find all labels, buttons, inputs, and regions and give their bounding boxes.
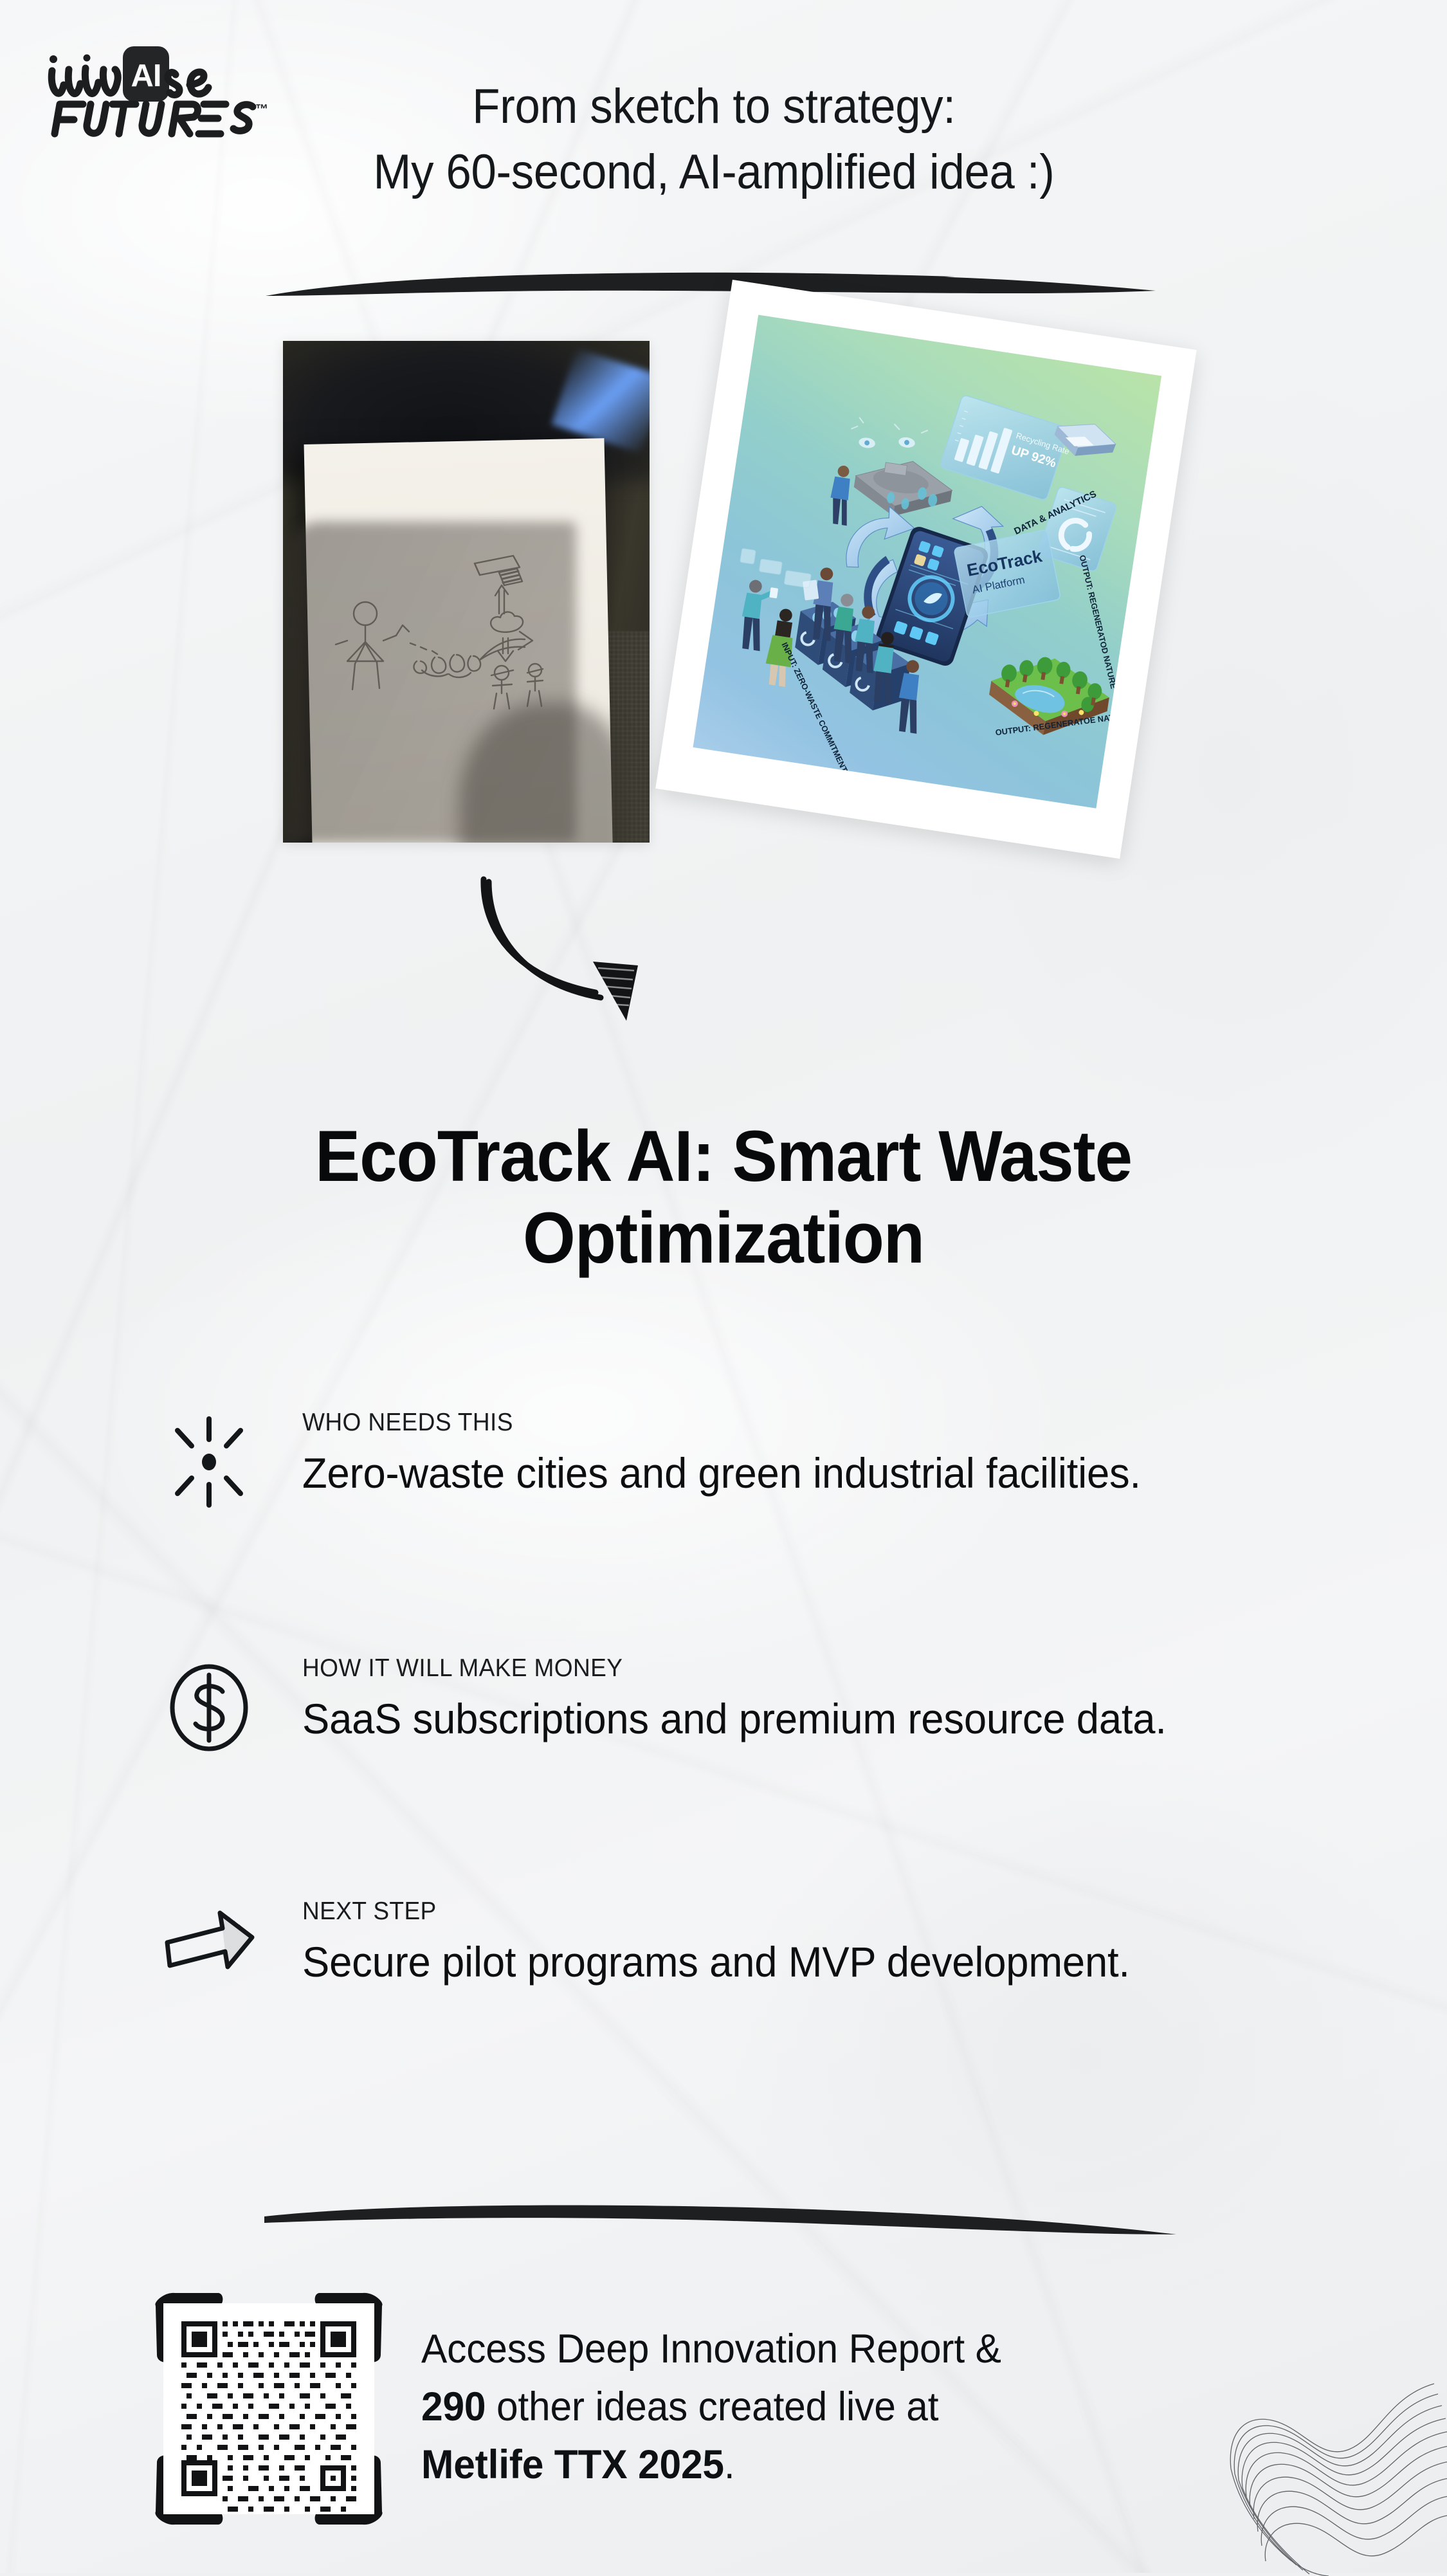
footer-caption: Access Deep Innovation Report & 290 othe… (421, 2320, 1273, 2494)
footer-line-2-rest: other ideas created live at (486, 2384, 938, 2429)
footer-line-1: Access Deep Innovation Report & (421, 2326, 1001, 2371)
pencil-sketch-drawing (283, 341, 650, 843)
feature-list: WHO NEEDS THIS Zero-waste cities and gre… (0, 1409, 1447, 2103)
decorative-wave-lines (1177, 2341, 1447, 2576)
hand-drawn-sketch-photo (283, 341, 650, 843)
feature-label: HOW IT WILL MAKE MONEY (302, 1654, 1158, 1683)
feature-label: WHO NEEDS THIS (302, 1409, 1132, 1437)
sunburst-icon (161, 1414, 257, 1510)
dollar-circle-icon (161, 1659, 257, 1756)
feature-label: NEXT STEP (302, 1897, 1121, 1926)
qr-code[interactable] (147, 2280, 391, 2537)
ai-label-output-top: OUTPUT: REGENERATOD NATURE (1077, 554, 1118, 690)
footer-idea-count: 290 (421, 2384, 486, 2429)
feature-how-it-will-make-money: HOW IT WILL MAKE MONEY SaaS subscription… (0, 1654, 1447, 1860)
curved-transform-arrow (444, 839, 720, 1064)
footer-period: . (724, 2442, 735, 2487)
arrow-block-icon (161, 1903, 257, 1999)
media-row: Recycling Rate UP 92% (0, 0, 1447, 1093)
feature-body: Zero-waste cities and green industrial f… (302, 1446, 1141, 1501)
feature-body: Secure pilot programs and MVP developmen… (302, 1935, 1130, 1989)
brush-divider-bottom (260, 2200, 1180, 2245)
footer-event-name: Metlife TTX 2025 (421, 2442, 724, 2487)
feature-who-needs-this: WHO NEEDS THIS Zero-waste cities and gre… (0, 1409, 1447, 1614)
ai-generated-concept-poster: Recycling Rate UP 92% (655, 280, 1196, 859)
page-title: EcoTrack AI: Smart Waste Optimization (122, 1116, 1325, 1279)
feature-next-step: NEXT STEP Secure pilot programs and MVP … (0, 1897, 1447, 2103)
feature-body: SaaS subscriptions and premium resource … (302, 1692, 1167, 1746)
